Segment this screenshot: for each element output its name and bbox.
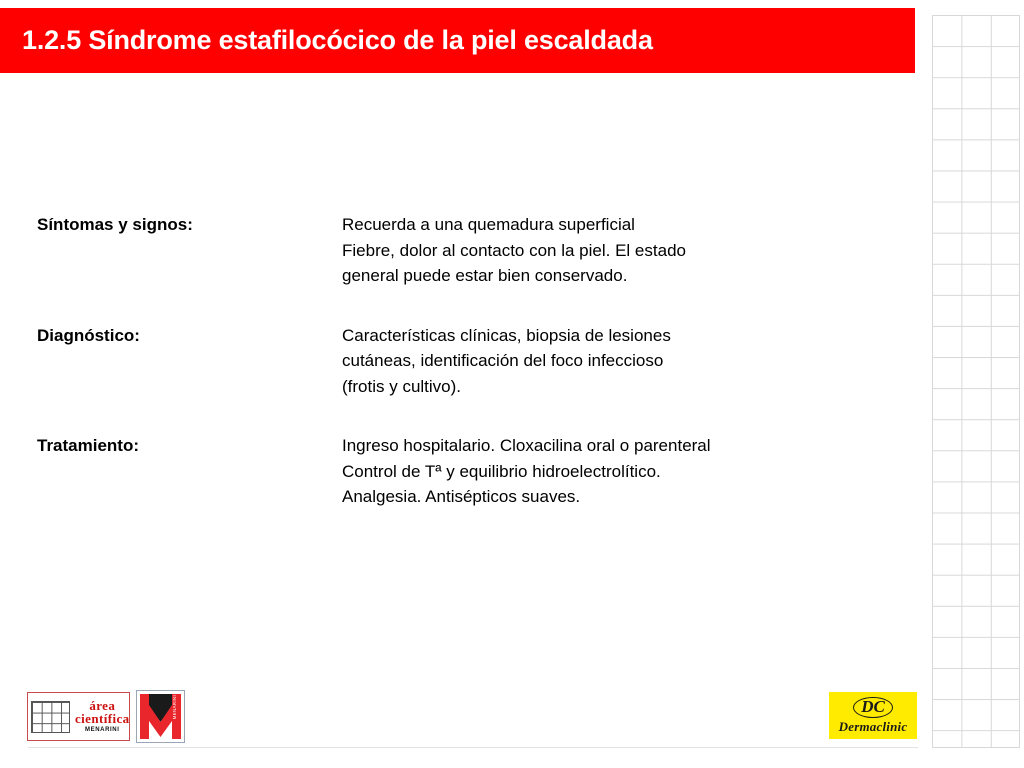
menarini-m-mark-logo: MENARINI <box>136 690 185 743</box>
section-diagnostico: Diagnóstico: Características clínicas, b… <box>37 323 917 400</box>
section-body-line: cutáneas, identificación del foco infecc… <box>342 348 917 374</box>
section-body: Características clínicas, biopsia de les… <box>342 323 917 400</box>
section-body-line: Características clínicas, biopsia de les… <box>342 323 917 349</box>
section-body-line: general puede estar bien conservado. <box>342 263 917 289</box>
section-body-line: Control de Tª y equilibrio hidroelectrol… <box>342 459 917 485</box>
dermaclinic-name: Dermaclinic <box>839 719 908 734</box>
footer-divider <box>28 747 918 748</box>
menarini-vertical-text: MENARINI <box>172 695 177 719</box>
menarini-logo-line1: área <box>75 699 130 712</box>
section-body-line: Fiebre, dolor al contacto con la piel. E… <box>342 238 917 264</box>
decorative-grid-pattern <box>932 15 1020 748</box>
dermaclinic-logo: DC Dermaclinic <box>829 692 917 739</box>
slide-title-bar: 1.2.5 Síndrome estafilocócico de la piel… <box>0 8 915 73</box>
section-tratamiento: Tratamiento: Ingreso hospitalario. Cloxa… <box>37 433 917 510</box>
section-body-line: Analgesia. Antisépticos suaves. <box>342 484 917 510</box>
section-body-line: Ingreso hospitalario. Cloxacilina oral o… <box>342 433 917 459</box>
page-title: 1.2.5 Síndrome estafilocócico de la piel… <box>0 25 653 56</box>
dermaclinic-monogram: DC <box>853 697 893 718</box>
section-label: Tratamiento: <box>37 433 342 459</box>
grid-icon <box>31 701 70 733</box>
section-sintomas-y-signos: Síntomas y signos: Recuerda a una quemad… <box>37 212 917 289</box>
menarini-logo-line2: científica <box>75 712 130 725</box>
section-label: Síntomas y signos: <box>37 212 342 238</box>
section-body: Ingreso hospitalario. Cloxacilina oral o… <box>342 433 917 510</box>
section-label: Diagnóstico: <box>37 323 342 349</box>
menarini-area-cientifica-logo: área científica MENARINI <box>27 692 130 741</box>
section-body-line: (frotis y cultivo). <box>342 374 917 400</box>
slide-content: Síntomas y signos: Recuerda a una quemad… <box>37 212 917 544</box>
menarini-logo-line3: MENARINI <box>75 726 130 735</box>
section-body-line: Recuerda a una quemadura superficial <box>342 212 917 238</box>
section-body: Recuerda a una quemadura superficial Fie… <box>342 212 917 289</box>
menarini-logo-text: área científica MENARINI <box>70 699 130 735</box>
